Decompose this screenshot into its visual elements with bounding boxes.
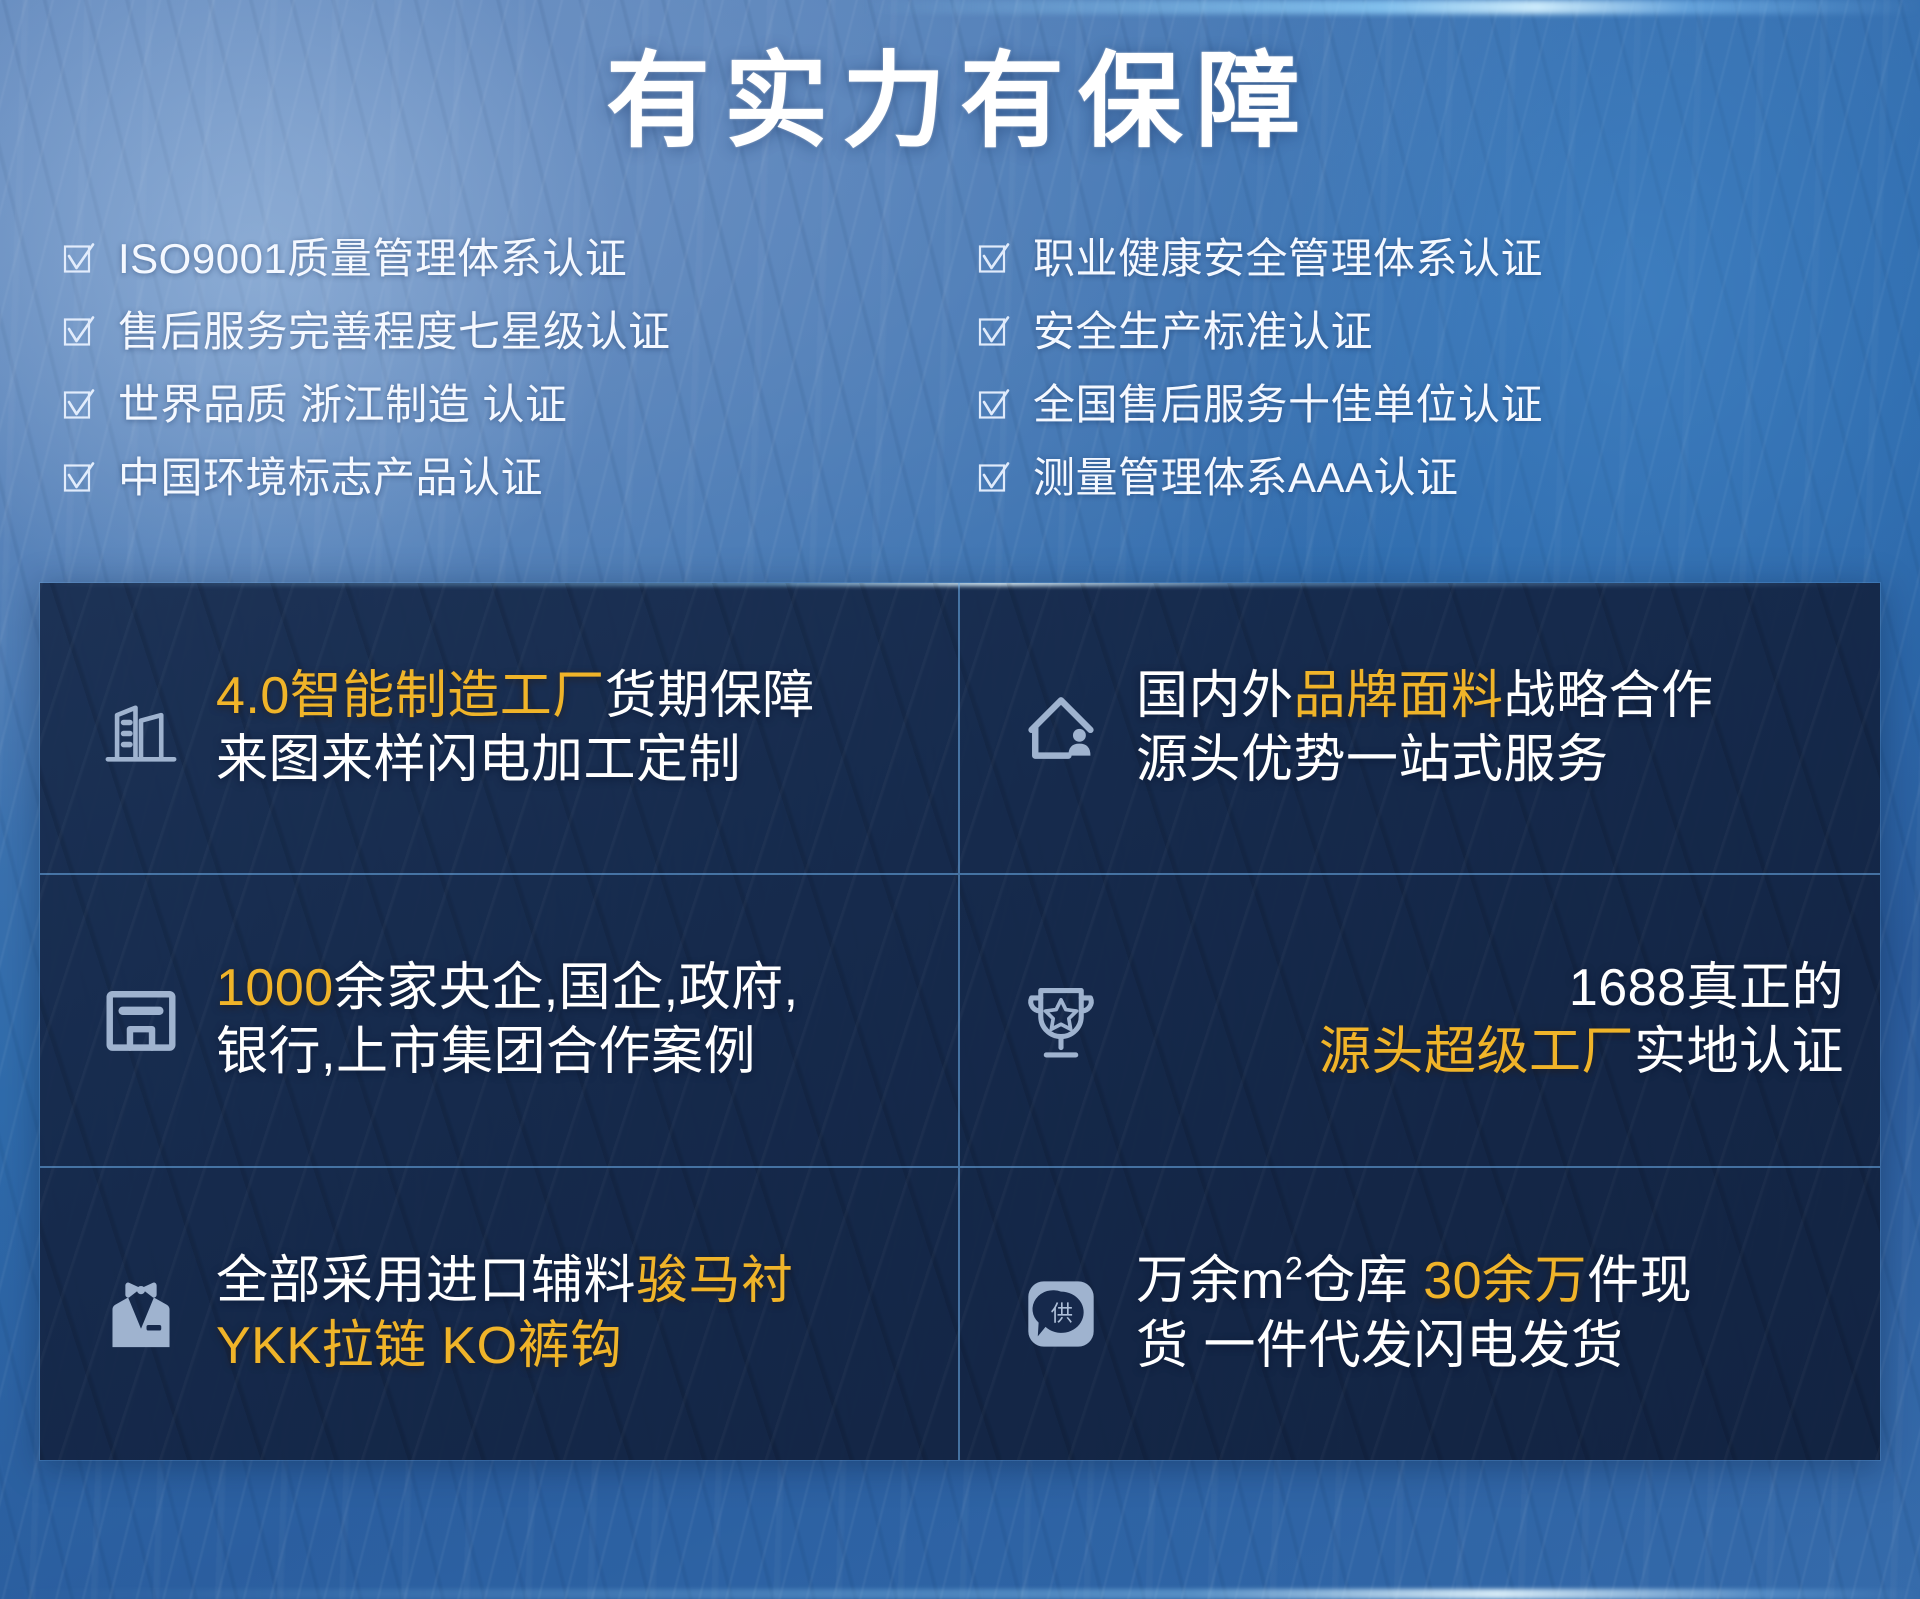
feature-card-brand-fabric[interactable]: 国内外品牌面料战略合作源头优势一站式服务 bbox=[960, 583, 1880, 875]
certification-label: 售后服务完善程度七星级认证 bbox=[118, 311, 671, 353]
certification-label: 职业健康安全管理体系认证 bbox=[1033, 238, 1543, 280]
text-segment: 货 一件代发闪电发货 bbox=[1136, 1317, 1623, 1375]
supply-badge-icon: 供 bbox=[986, 1271, 1136, 1357]
certification-column-right: 职业健康安全管理体系认证安全生产标准认证全国售后服务十佳单位认证测量管理体系AA… bbox=[943, 222, 1858, 514]
checkbox-check-icon bbox=[62, 315, 96, 349]
feature-card-text: 1000余家央企,国企,政府,银行,上市集团合作案例 bbox=[216, 956, 932, 1085]
certification-item: 测量管理体系AAA认证 bbox=[977, 441, 1858, 514]
page-title: 有实力有保障 bbox=[0, 46, 1920, 158]
checkbox-check-icon bbox=[62, 242, 96, 276]
text-segment: 件现 bbox=[1587, 1252, 1692, 1310]
text-segment: 余家央企,国企,政府, bbox=[334, 959, 799, 1017]
feature-card-super-factory-verified[interactable]: 1688真正的源头超级工厂实地认证 bbox=[960, 875, 1880, 1167]
checkbox-check-icon bbox=[977, 315, 1011, 349]
text-segment: YKK拉链 KO裤钩 bbox=[216, 1317, 623, 1375]
feature-card-text: 4.0智能制造工厂货期保障来图来样闪电加工定制 bbox=[216, 664, 932, 793]
text-segment: 1688真正的 bbox=[1569, 959, 1844, 1017]
bottom-edge-glow bbox=[0, 1589, 1920, 1599]
certification-item: 世界品质 浙江制造 认证 bbox=[62, 368, 943, 441]
top-edge-glow bbox=[0, 0, 1920, 14]
text-segment: 品牌面料 bbox=[1294, 667, 1504, 725]
checkbox-check-icon bbox=[977, 461, 1011, 495]
text-segment: 源头超级工厂 bbox=[1319, 1023, 1634, 1081]
certification-lists: ISO9001质量管理体系认证售后服务完善程度七星级认证世界品质 浙江制造 认证… bbox=[62, 222, 1858, 514]
feature-card-text: 万余m2仓库 30余万件现货 一件代发闪电发货 bbox=[1136, 1249, 1854, 1378]
text-segment: 货期保障 bbox=[605, 667, 815, 725]
text-segment: 战略合作 bbox=[1504, 667, 1714, 725]
svg-text:供: 供 bbox=[1051, 1301, 1073, 1327]
storefront-icon bbox=[66, 974, 216, 1066]
certification-column-left: ISO9001质量管理体系认证售后服务完善程度七星级认证世界品质 浙江制造 认证… bbox=[62, 222, 943, 514]
checkbox-check-icon bbox=[977, 242, 1011, 276]
factory-icon bbox=[66, 682, 216, 774]
text-segment: 1000 bbox=[216, 959, 334, 1017]
certification-label: 世界品质 浙江制造 认证 bbox=[118, 384, 567, 426]
certification-label: 测量管理体系AAA认证 bbox=[1033, 457, 1459, 499]
text-segment: 万余m2 bbox=[1136, 1252, 1303, 1310]
checkbox-check-icon bbox=[62, 388, 96, 422]
certification-item: ISO9001质量管理体系认证 bbox=[62, 222, 943, 295]
text-segment: 全部采用进口辅料 bbox=[216, 1252, 636, 1310]
certification-item: 全国售后服务十佳单位认证 bbox=[977, 368, 1858, 441]
certification-item: 安全生产标准认证 bbox=[977, 295, 1858, 368]
text-segment: 国内外 bbox=[1136, 667, 1294, 725]
text-segment: 实地认证 bbox=[1634, 1023, 1844, 1081]
certification-label: ISO9001质量管理体系认证 bbox=[118, 238, 627, 280]
text-segment: 银行,上市集团合作案例 bbox=[216, 1023, 756, 1081]
certification-item: 职业健康安全管理体系认证 bbox=[977, 222, 1858, 295]
home-supplier-icon bbox=[986, 682, 1136, 774]
certification-label: 全国售后服务十佳单位认证 bbox=[1033, 384, 1543, 426]
certification-label: 中国环境标志产品认证 bbox=[118, 457, 543, 499]
certification-item: 售后服务完善程度七星级认证 bbox=[62, 295, 943, 368]
feature-card-text: 全部采用进口辅料骏马衬YKK拉链 KO裤钩 bbox=[216, 1249, 932, 1378]
checkbox-check-icon bbox=[977, 388, 1011, 422]
feature-card-panel: 4.0智能制造工厂货期保障来图来样闪电加工定制国内外品牌面料战略合作源头优势一站… bbox=[40, 583, 1880, 1460]
text-segment: 来图来样闪电加工定制 bbox=[216, 731, 741, 789]
feature-card-text: 国内外品牌面料战略合作源头优势一站式服务 bbox=[1136, 664, 1854, 793]
checkbox-check-icon bbox=[62, 461, 96, 495]
suit-bowtie-icon bbox=[66, 1268, 216, 1360]
trophy-star-icon bbox=[986, 974, 1136, 1066]
text-segment: 仓库 bbox=[1303, 1252, 1423, 1310]
text-segment: 骏马衬 bbox=[636, 1252, 794, 1310]
feature-card-warehouse-stock[interactable]: 供万余m2仓库 30余万件现货 一件代发闪电发货 bbox=[960, 1168, 1880, 1460]
certification-item: 中国环境标志产品认证 bbox=[62, 441, 943, 514]
text-segment: 4.0智能制造工厂 bbox=[216, 667, 605, 725]
text-segment: 30余万 bbox=[1423, 1252, 1587, 1310]
feature-card-text: 1688真正的源头超级工厂实地认证 bbox=[1136, 956, 1854, 1085]
feature-card-enterprise-clients[interactable]: 1000余家央企,国企,政府,银行,上市集团合作案例 bbox=[40, 875, 960, 1167]
certification-label: 安全生产标准认证 bbox=[1033, 311, 1373, 353]
feature-card-smart-factory[interactable]: 4.0智能制造工厂货期保障来图来样闪电加工定制 bbox=[40, 583, 960, 875]
feature-card-imported-accessories[interactable]: 全部采用进口辅料骏马衬YKK拉链 KO裤钩 bbox=[40, 1168, 960, 1460]
text-segment: 源头优势一站式服务 bbox=[1136, 731, 1609, 789]
